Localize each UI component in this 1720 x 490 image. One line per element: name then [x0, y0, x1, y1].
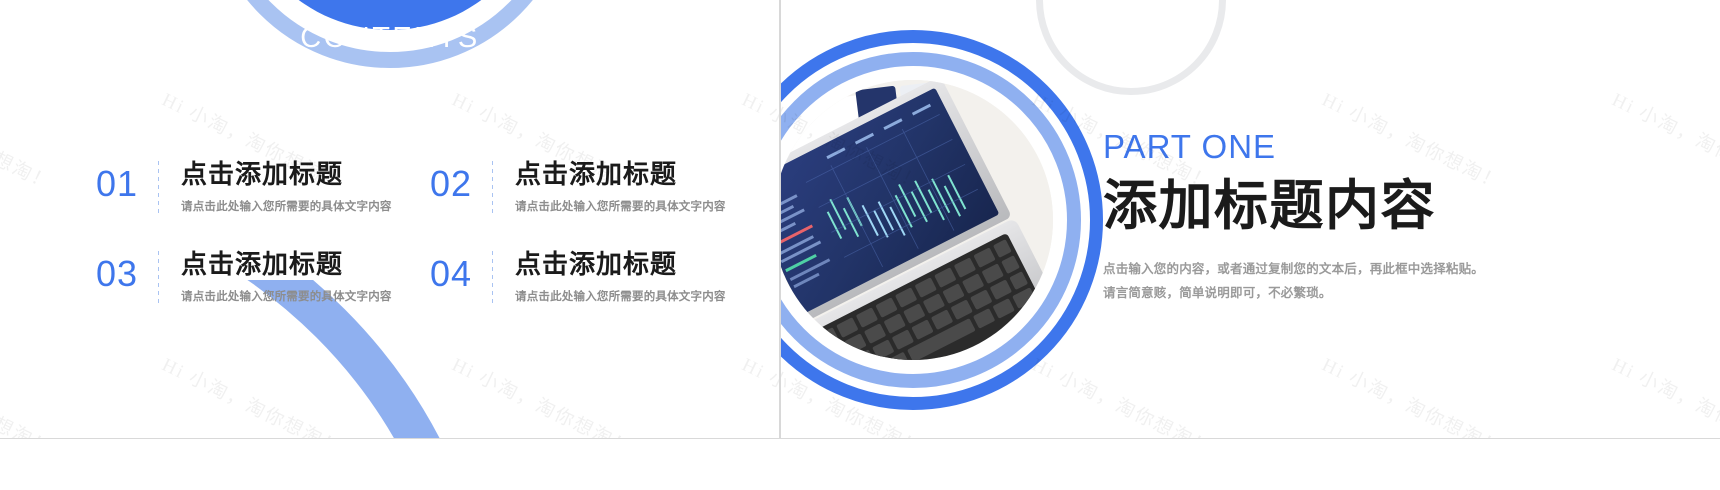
item-number: 03 — [96, 250, 158, 292]
bottom-white-strip — [0, 438, 1720, 490]
item-title: 点击添加标题 — [515, 250, 726, 280]
item-subtitle: 请点击此处输入您所需要的具体文字内容 — [515, 198, 726, 214]
item-title: 点击添加标题 — [181, 160, 392, 190]
item-subtitle: 请点击此处输入您所需要的具体文字内容 — [181, 198, 392, 214]
contents-item-01[interactable]: 01 点击添加标题 请点击此处输入您所需要的具体文字内容 — [96, 160, 392, 214]
item-divider-line — [158, 251, 159, 303]
bottom-rule-line — [0, 438, 1720, 439]
body-line-2: 请言简意赅，简单说明即可，不必繁琐。 — [1103, 282, 1663, 306]
slide-contents[interactable]: CONTENTS 01 点击添加标题 请点击此处输入您所需要的具体文字内容 02… — [0, 0, 779, 438]
item-title: 点击添加标题 — [515, 160, 726, 190]
item-divider-line — [492, 161, 493, 213]
contents-item-02[interactable]: 02 点击添加标题 请点击此处输入您所需要的具体文字内容 — [430, 160, 726, 214]
item-number: 01 — [96, 160, 158, 202]
item-divider-line — [158, 161, 159, 213]
body-line-1: 点击输入您的内容，或者通过复制您的文本后，再此框中选择粘贴。 — [1103, 258, 1663, 282]
part-one-text-block: PART ONE 添加标题内容 点击输入您的内容，或者通过复制您的文本后，再此框… — [1103, 130, 1663, 306]
item-number: 04 — [430, 250, 492, 292]
item-title: 点击添加标题 — [181, 250, 392, 280]
section-kicker: PART ONE — [1103, 130, 1663, 163]
slide-separator — [779, 0, 781, 438]
circular-photo-cluster: O B — [781, 30, 1103, 410]
contents-item-03[interactable]: 03 点击添加标题 请点击此处输入您所需要的具体文字内容 — [96, 250, 392, 304]
section-title: 添加标题内容 — [1103, 177, 1663, 236]
contents-item-04[interactable]: 04 点击添加标题 请点击此处输入您所需要的具体文字内容 — [430, 250, 726, 304]
slide-part-one[interactable]: O B — [781, 0, 1720, 438]
item-subtitle: 请点击此处输入您所需要的具体文字内容 — [515, 288, 726, 304]
item-divider-line — [492, 251, 493, 303]
contents-item-grid: 01 点击添加标题 请点击此处输入您所需要的具体文字内容 02 点击添加标题 请… — [0, 0, 779, 438]
laptop-photo: O B — [781, 80, 1053, 360]
slide-deck-preview: CONTENTS 01 点击添加标题 请点击此处输入您所需要的具体文字内容 02… — [0, 0, 1720, 490]
section-body: 点击输入您的内容，或者通过复制您的文本后，再此框中选择粘贴。 请言简意赅，简单说… — [1103, 258, 1663, 306]
item-number: 02 — [430, 160, 492, 202]
item-subtitle: 请点击此处输入您所需要的具体文字内容 — [181, 288, 392, 304]
